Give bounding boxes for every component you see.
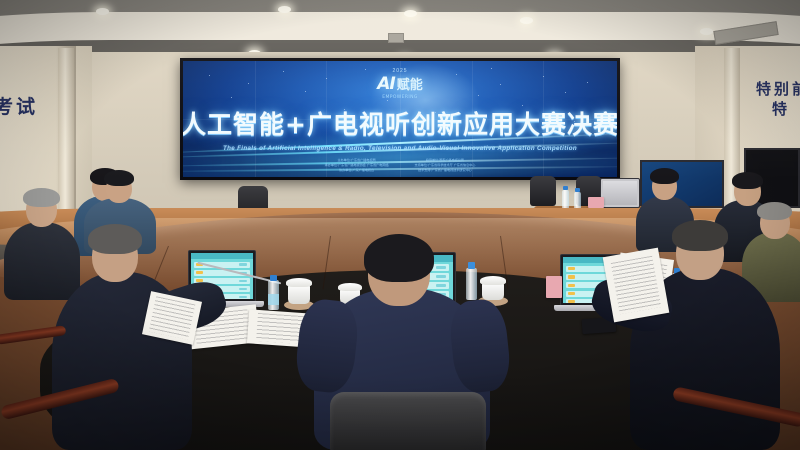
- right-wall-sign-line2: 特: [772, 98, 790, 119]
- document-text-lines: [610, 255, 661, 314]
- event-main-title: 人工智能+广电视听创新应用大赛决赛: [183, 105, 617, 141]
- name-card-right: [546, 276, 562, 298]
- logo-tagline: EMPOWERING: [382, 95, 418, 100]
- main-led-display: 2025 AI 赋能 EMPOWERING 人工智能+广电视听创新应用大赛决赛 …: [180, 58, 620, 180]
- left-wall-sign: 考试: [0, 92, 38, 119]
- cup-body: [288, 284, 310, 304]
- bottle-cap: [575, 188, 580, 192]
- logo-ai-text: AI: [377, 74, 394, 94]
- person-hair: [104, 170, 134, 186]
- person-hair: [672, 220, 728, 251]
- document-text-lines: [149, 297, 195, 340]
- cup-lid: [338, 283, 362, 291]
- conference-room-photo: 考试 特别前 特: [0, 0, 800, 450]
- person-hair: [757, 202, 792, 220]
- person-hair: [88, 224, 142, 254]
- bottle-cap: [563, 186, 568, 190]
- organizer-line: 技术支持:广东省广播电视技术研究中心: [415, 168, 476, 173]
- app-topbar: [191, 253, 253, 259]
- ceiling-downlight: [404, 10, 417, 17]
- bottle-cap: [270, 275, 277, 281]
- right-wall-sign-line1: 特别前: [756, 78, 800, 99]
- ceiling-air-vent: [388, 33, 404, 43]
- person-torso: [4, 222, 80, 300]
- bottle-body: [562, 190, 569, 210]
- ceiling-downlight: [96, 8, 109, 15]
- person-hair: [364, 234, 434, 282]
- person-hair: [23, 188, 60, 207]
- organizer-line: 承办单位:广东省广播电视协会 广东省广电网络: [325, 163, 389, 168]
- led-content: 2025 AI 赋能 EMPOWERING 人工智能+广电视听创新应用大赛决赛 …: [183, 61, 617, 177]
- organizer-line: 支持单位:广东省科学技术厅 广东省信息中心: [415, 163, 476, 168]
- bottle-cap: [468, 262, 475, 269]
- podium-laptop: [600, 178, 640, 208]
- event-logo: AI 赋能: [377, 74, 423, 94]
- ceiling-downlight: [278, 6, 291, 13]
- held-document: [603, 248, 670, 323]
- person-hair: [732, 172, 763, 189]
- ceiling-downlight: [520, 17, 533, 24]
- background-chair: [530, 176, 556, 206]
- organizer-credits: 主办单位:广东省广播电视局 承办单位:广东省广播电视协会 广东省广电网络 协办单…: [325, 158, 476, 172]
- event-english-subtitle: The Finals of Artificial Intelligence & …: [223, 145, 577, 152]
- cup-lid: [286, 278, 312, 287]
- led-screen-surface: 2025 AI 赋能 EMPOWERING 人工智能+广电视听创新应用大赛决赛 …: [183, 61, 617, 177]
- cup-lid: [480, 276, 506, 285]
- bottle-label: [268, 294, 279, 305]
- person-hair: [650, 168, 679, 184]
- organizer-column-left: 主办单位:广东省广播电视局 承办单位:广东省广播电视协会 广东省广电网络 协办单…: [325, 158, 389, 172]
- organizer-line: 协办单位:广东广播电视台: [325, 168, 389, 173]
- logo-chinese-text: 赋能: [397, 74, 423, 93]
- ceiling-downlight: [700, 28, 713, 35]
- organizer-column-right: 指导单位:国家广播电视总局 支持单位:广东省科学技术厅 广东省信息中心 技术支持…: [415, 158, 476, 172]
- podium-name-card: [588, 197, 604, 208]
- executive-chair-center[interactable]: [330, 392, 486, 450]
- bottle-body: [466, 268, 477, 300]
